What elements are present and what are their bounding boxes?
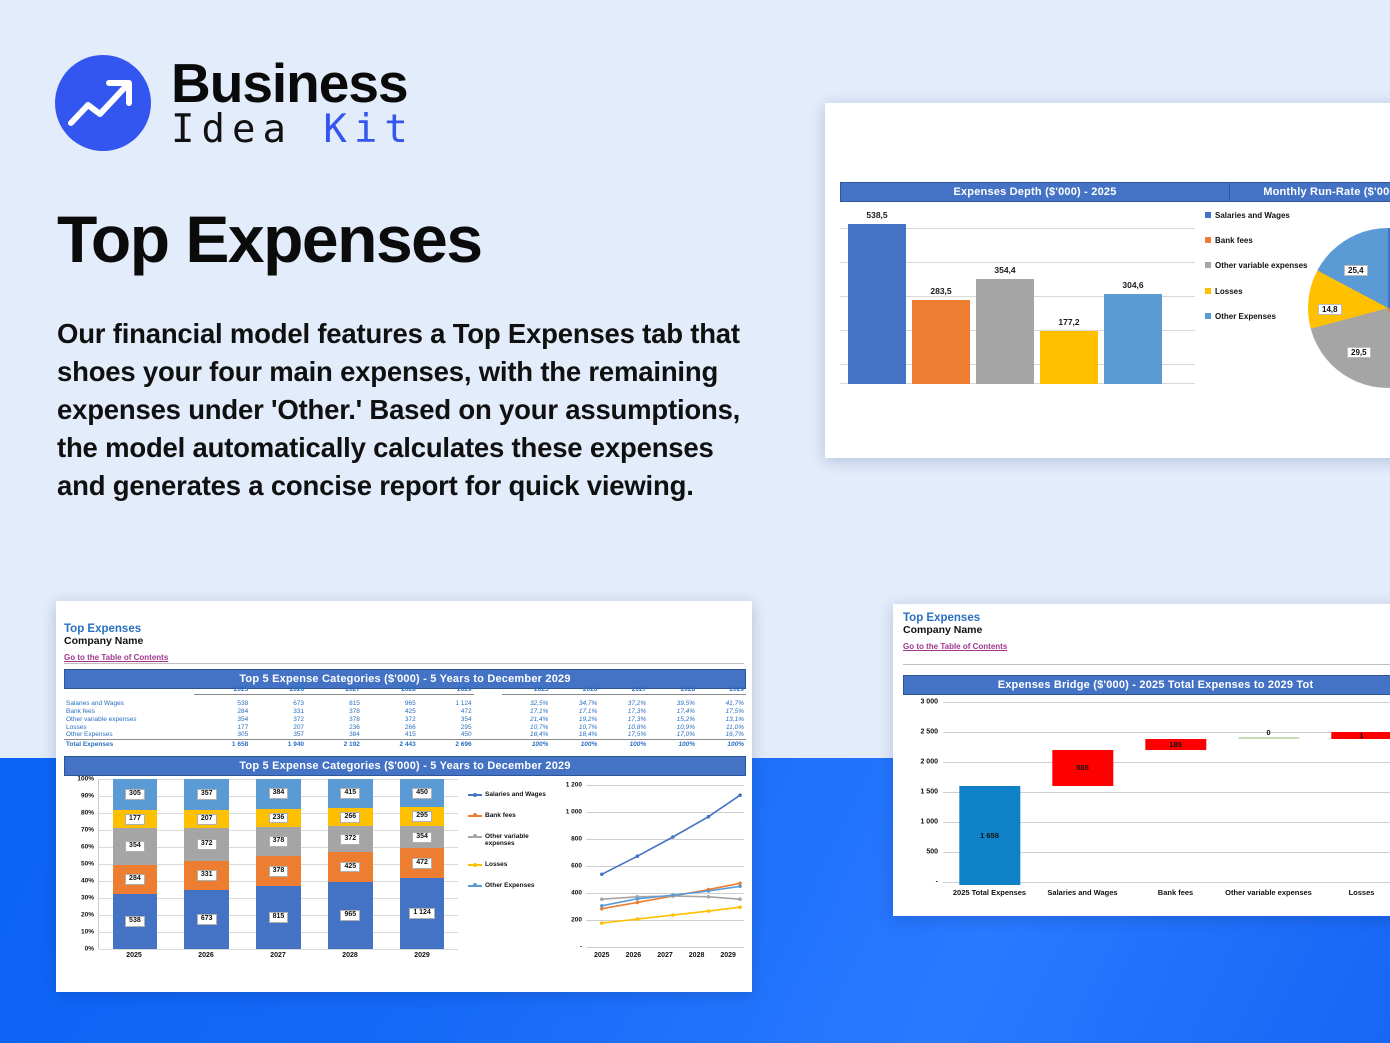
cell: 32,5%	[502, 700, 551, 708]
legend-dash-bank-fees	[468, 815, 482, 817]
seg-label: 354	[412, 832, 432, 843]
cell: 17,4%	[648, 708, 697, 716]
seg-label: 425	[340, 862, 360, 873]
th-pct-2029: 2029	[697, 686, 746, 695]
stacked-column-2027: 384 236 378 378 815	[243, 779, 315, 949]
bar-label-other-variable: 354,4	[994, 265, 1015, 275]
x-tick: 2025 Total Expenses	[943, 888, 1036, 897]
seg-label: 538	[125, 916, 145, 927]
cell: 207	[250, 723, 306, 731]
br-chart-band-title: Expenses Bridge ($'000) - 2025 Total Exp…	[903, 675, 1390, 695]
cell: 34,7%	[550, 700, 599, 708]
y-tick: 50%	[81, 861, 94, 868]
seg-label: 207	[197, 814, 217, 825]
stacked-x-axis: 2025 2026 2027 2028 2029	[98, 952, 458, 959]
th-pct-2028: 2028	[648, 686, 697, 695]
bl-toc-link[interactable]: Go to the Table of Contents	[64, 653, 168, 662]
wf-label: 0	[1266, 728, 1270, 737]
brand-name-line1: Business	[171, 57, 415, 109]
th-pct-2026: 2026	[550, 686, 599, 695]
seg-label: 284	[125, 874, 145, 885]
bar-other-variable: 354,4	[976, 279, 1034, 384]
legend-label-other-variable: Other variable expenses	[485, 833, 554, 849]
wf-label: 585	[1076, 763, 1089, 772]
seg-label: 1 124	[409, 908, 435, 919]
wf-col-salaries: 585	[1036, 697, 1129, 885]
y-tick: 1 200	[566, 782, 582, 789]
stacked-column-2026: 357 207 372 331 673	[171, 779, 243, 949]
row-label: Salaries and Wages	[64, 700, 194, 708]
x-tick: 2025	[586, 952, 618, 959]
table-total-row: Total Expenses1 6581 9402 1922 4432 6961…	[64, 739, 746, 748]
cell: 266	[362, 723, 418, 731]
stacked-column-2029: 450 295 354 472 1 124	[386, 779, 458, 949]
line-y-axis: 1 200 1 000 800 600 400 200 -	[554, 779, 584, 949]
cell: 1 658	[194, 739, 250, 748]
cell: 37,2%	[599, 700, 648, 708]
x-tick: 2029	[386, 952, 458, 959]
cell: 472	[418, 708, 474, 716]
legend-dash-other-expenses	[468, 885, 482, 887]
y-tick: 30%	[81, 895, 94, 902]
y-tick: 400	[571, 890, 582, 897]
bar-label-losses: 177,2	[1058, 317, 1079, 327]
expenses-depth-panel: Expenses Depth ($'000) - 2025 Monthly Ru…	[825, 103, 1390, 458]
y-tick: 10%	[81, 929, 94, 936]
cell: 100%	[502, 739, 551, 748]
bl-divider	[64, 663, 744, 664]
expenses-depth-bar-chart: 538,5 283,5 354,4 177,2 304,6	[840, 206, 1195, 384]
page-title: Top Expenses	[57, 205, 482, 274]
th-2029: 2029	[418, 686, 474, 695]
cell: 236	[306, 723, 362, 731]
expenses-depth-legend: Salaries and Wages Bank fees Other varia…	[1205, 211, 1325, 337]
cell: 41,7%	[697, 700, 746, 708]
th-blank	[64, 686, 194, 695]
legend-swatch-bank-fees	[1205, 237, 1211, 243]
cell: 10,7%	[502, 723, 551, 731]
cell: 100%	[697, 739, 746, 748]
legend-label-salaries: Salaries and Wages	[485, 791, 546, 799]
y-tick: 90%	[81, 793, 94, 800]
x-tick: 2027	[242, 952, 314, 959]
br-header-title: Top Expenses	[903, 612, 1007, 624]
legend-swatch-other-variable	[1205, 262, 1211, 268]
cell: 18,4%	[550, 731, 599, 739]
y-tick: 1 500	[920, 789, 938, 796]
cell: 372	[250, 715, 306, 723]
cell: 2 443	[362, 739, 418, 748]
pie-label-losses: 14,8	[1318, 304, 1342, 315]
legend-swatch-salaries	[1205, 212, 1211, 218]
stacked-y-axis: 100% 90% 80% 70% 60% 50% 40% 30% 20% 10%…	[70, 779, 96, 949]
seg-label: 378	[269, 866, 289, 877]
bar-losses: 177,2	[1040, 331, 1098, 384]
cell: 450	[418, 731, 474, 739]
pie-label-other-expenses: 25,4	[1344, 265, 1368, 276]
seg-label: 673	[197, 914, 217, 925]
cell: 331	[250, 708, 306, 716]
cell: 18,4%	[502, 731, 551, 739]
legend-label-losses: Losses	[1215, 287, 1243, 296]
bar-salaries: 538,5	[848, 224, 906, 384]
cell: 305	[194, 731, 250, 739]
bar-label-bank-fees: 283,5	[930, 286, 951, 296]
expenses-depth-band-title: Expenses Depth ($'000) - 2025	[840, 182, 1230, 202]
cell: 17,3%	[599, 715, 648, 723]
y-tick: -	[936, 879, 938, 886]
cell: 1 940	[250, 739, 306, 748]
cell: 15,2%	[648, 715, 697, 723]
stacked-plot-area: 305 177 354 284 538 357 207 372 331 673 …	[98, 779, 458, 949]
legend-dash-other-variable	[468, 836, 482, 838]
wf-col-losses: 1	[1315, 697, 1390, 885]
y-tick: 2 000	[920, 759, 938, 766]
cell: 13,1%	[697, 715, 746, 723]
cell: 295	[418, 723, 474, 731]
cell: 372	[362, 715, 418, 723]
bl-panel-header: Top Expenses Company Name Go to the Tabl…	[64, 623, 168, 665]
cell: 673	[250, 700, 306, 708]
x-tick: 2029	[712, 952, 744, 959]
y-tick: 40%	[81, 878, 94, 885]
bl-header-company: Company Name	[64, 635, 168, 647]
y-tick: 0%	[85, 946, 94, 953]
legend-label-bank-fees: Bank fees	[1215, 236, 1253, 245]
brand-logo: Business Idea Kit	[55, 55, 415, 151]
row-label: Other Expenses	[64, 731, 194, 739]
th-2025: 2025	[194, 686, 250, 695]
cell: 39,5%	[648, 700, 697, 708]
seg-label: 384	[269, 788, 289, 799]
table-row: Bank fees28433137842547217,1%17,1%17,3%1…	[64, 708, 746, 716]
bl-header-title: Top Expenses	[64, 623, 168, 635]
y-tick: 3 000	[920, 699, 938, 706]
legend-label-losses: Losses	[485, 861, 507, 869]
x-tick: 2026	[170, 952, 242, 959]
seg-label: 295	[412, 811, 432, 822]
legend-swatch-losses	[1205, 288, 1211, 294]
x-tick: Losses	[1315, 888, 1390, 897]
legend-dash-salaries	[468, 794, 482, 796]
cell: 19,2%	[550, 715, 599, 723]
monthly-runrate-band-title: Monthly Run-Rate ($'000	[1230, 182, 1390, 202]
brand-name-line2: Idea Kit	[171, 110, 415, 149]
th-2028: 2028	[362, 686, 418, 695]
cell: 17,0%	[648, 731, 697, 739]
seg-label: 372	[197, 839, 217, 850]
cell: 354	[194, 715, 250, 723]
table-row: Losses17720723626629510,7%10,7%10,8%10,9…	[64, 723, 746, 731]
legend-label-salaries: Salaries and Wages	[1215, 211, 1290, 220]
trend-arrow-circle-icon	[55, 55, 151, 151]
cell: 354	[418, 715, 474, 723]
cell: 100%	[550, 739, 599, 748]
th-2026: 2026	[250, 686, 306, 695]
th-2027: 2027	[306, 686, 362, 695]
wf-col-other-variable: 0	[1222, 697, 1315, 885]
expenses-bridge-panel: Top Expenses Company Name Go to the Tabl…	[893, 604, 1390, 916]
cell: 415	[362, 731, 418, 739]
bar-bank-fees: 283,5	[912, 300, 970, 384]
pie-label-other-variable: 29,5	[1347, 347, 1371, 358]
row-label: Losses	[64, 723, 194, 731]
cell: 10,8%	[599, 723, 648, 731]
y-tick: 20%	[81, 912, 94, 919]
monthly-runrate-pie-chart: 25,4 14,8 29,5	[1308, 228, 1390, 388]
x-tick: 2025	[98, 952, 170, 959]
wf-col-2025-total: 1 658	[943, 697, 1036, 885]
y-tick: 1 000	[920, 819, 938, 826]
table-row: Salaries and Wages5386738159651 12432,5%…	[64, 700, 746, 708]
seg-label: 472	[412, 858, 432, 869]
br-divider	[903, 664, 1390, 665]
y-tick: 100%	[77, 776, 94, 783]
seg-label: 965	[340, 910, 360, 921]
th-pct-2025: 2025	[502, 686, 551, 695]
bl-chart-band-title: Top 5 Expense Categories ($'000) - 5 Yea…	[64, 756, 746, 776]
y-tick: 600	[571, 863, 582, 870]
cell: 100%	[648, 739, 697, 748]
waterfall-plot-area: 1 658 585 189 0	[943, 697, 1390, 885]
top5-expense-categories-panel: Top Expenses Company Name Go to the Tabl…	[56, 601, 752, 992]
y-tick: 800	[571, 836, 582, 843]
seg-label: 378	[269, 836, 289, 847]
x-tick: Bank fees	[1129, 888, 1222, 897]
row-label: Bank fees	[64, 708, 194, 716]
bar-label-salaries: 538,5	[866, 210, 887, 220]
cell: 17,3%	[599, 708, 648, 716]
y-tick: 200	[571, 917, 582, 924]
seg-label: 357	[197, 789, 217, 800]
seg-label: 266	[340, 812, 360, 823]
line-x-axis: 2025 2026 2027 2028 2029	[586, 952, 744, 959]
y-tick: 80%	[81, 810, 94, 817]
cell: 17,1%	[550, 708, 599, 716]
cell: 177	[194, 723, 250, 731]
x-tick: Salaries and Wages	[1036, 888, 1129, 897]
cell: 100%	[599, 739, 648, 748]
th-pct-2027: 2027	[599, 686, 648, 695]
y-tick: 500	[926, 849, 938, 856]
cell: 425	[362, 708, 418, 716]
cell: 10,7%	[550, 723, 599, 731]
cell: 378	[306, 708, 362, 716]
cell: 17,5%	[599, 731, 648, 739]
stacked-column-2028: 415 266 372 425 965	[314, 779, 386, 949]
legend-label-other-expenses: Other Expenses	[1215, 312, 1276, 321]
x-tick: 2027	[649, 952, 681, 959]
y-tick: 1 000	[566, 809, 582, 816]
cell: 284	[194, 708, 250, 716]
cell: 10,9%	[648, 723, 697, 731]
cell: 2 696	[418, 739, 474, 748]
waterfall-y-axis: 3 000 2 500 2 000 1 500 1 000 500 -	[903, 697, 941, 885]
line-chart-legend: Salaries and Wages Bank fees Other varia…	[468, 791, 554, 903]
table-row: Other Expenses30535738441545018,4%18,4%1…	[64, 731, 746, 739]
seg-label: 236	[269, 813, 289, 824]
cell: 21,4%	[502, 715, 551, 723]
top5-expense-table: 2025 2026 2027 2028 2029 2025 2026 2027 …	[64, 686, 746, 748]
x-tick: 2026	[618, 952, 650, 959]
cell: 11,0%	[697, 723, 746, 731]
cell: 16,7%	[697, 731, 746, 739]
y-tick: 70%	[81, 827, 94, 834]
cell: 17,1%	[502, 708, 551, 716]
wf-col-bank-fees: 189	[1129, 697, 1222, 885]
cell: 538	[194, 700, 250, 708]
seg-label: 354	[125, 841, 145, 852]
seg-label: 415	[340, 788, 360, 799]
seg-label: 815	[269, 912, 289, 923]
y-tick: 60%	[81, 844, 94, 851]
waterfall-x-axis: 2025 Total Expenses Salaries and Wages B…	[943, 888, 1390, 897]
cell: 965	[362, 700, 418, 708]
br-toc-link[interactable]: Go to the Table of Contents	[903, 642, 1007, 651]
seg-label: 177	[125, 814, 145, 825]
stacked-column-2025: 305 177 354 284 538	[99, 779, 171, 949]
br-panel-header: Top Expenses Company Name Go to the Tabl…	[903, 612, 1007, 654]
cell: 2 192	[306, 739, 362, 748]
bar-label-other-expenses: 304,6	[1122, 280, 1143, 290]
wf-label: 189	[1169, 740, 1182, 749]
bar-other-expenses: 304,6	[1104, 294, 1162, 384]
br-header-company: Company Name	[903, 624, 1007, 636]
table-header-row: 2025 2026 2027 2028 2029 2025 2026 2027 …	[64, 686, 746, 695]
legend-dash-losses	[468, 864, 482, 866]
row-label: Total Expenses	[64, 739, 194, 748]
cell: 17,5%	[697, 708, 746, 716]
x-tick: 2028	[314, 952, 386, 959]
th-gap	[474, 686, 502, 695]
y-tick: -	[580, 944, 582, 951]
x-tick: 2028	[681, 952, 713, 959]
wf-label: 1	[1359, 731, 1363, 740]
legend-label-other-variable: Other variable expenses	[1215, 261, 1308, 270]
line-plot-area	[586, 779, 744, 949]
expense-trend-line-chart: Salaries and Wages Bank fees Other varia…	[468, 779, 746, 977]
page-description: Our financial model features a Top Expen…	[57, 315, 757, 505]
legend-label-other-expenses: Other Expenses	[485, 882, 535, 890]
cell: 357	[250, 731, 306, 739]
x-tick: Other variable expenses	[1222, 888, 1315, 897]
seg-label: 331	[197, 870, 217, 881]
row-label: Other variable expenses	[64, 715, 194, 723]
cell: 378	[306, 715, 362, 723]
topright-band-row: Expenses Depth ($'000) - 2025 Monthly Ru…	[840, 182, 1390, 202]
seg-label: 372	[340, 834, 360, 845]
cell: 384	[306, 731, 362, 739]
seg-label: 305	[125, 789, 145, 800]
seg-label: 450	[412, 788, 432, 799]
legend-label-bank-fees: Bank fees	[485, 812, 516, 820]
y-tick: 2 500	[920, 729, 938, 736]
table-row: Other variable expenses35437237837235421…	[64, 715, 746, 723]
stacked-expense-chart: 100% 90% 80% 70% 60% 50% 40% 30% 20% 10%…	[70, 779, 462, 977]
cell: 1 124	[418, 700, 474, 708]
wf-label: 1 658	[980, 831, 999, 840]
expenses-bridge-waterfall-chart: 3 000 2 500 2 000 1 500 1 000 500 - 1 65…	[903, 697, 1390, 909]
legend-swatch-other-expenses	[1205, 313, 1211, 319]
cell: 815	[306, 700, 362, 708]
